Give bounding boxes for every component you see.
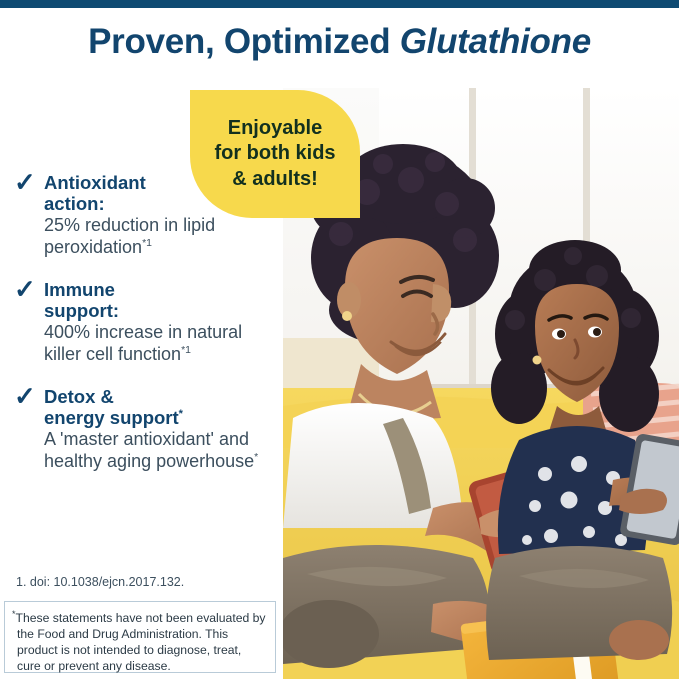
citation-reference: 1. doi: 10.1038/ejcn.2017.132. [16,575,184,589]
fda-disclaimer-text: *These statements have not been evaluate… [12,609,266,675]
benefit-heading-superscript: * [179,408,183,420]
benefit-body-superscript: * [254,451,258,463]
check-icon: ✓ [14,383,36,409]
benefits-list: ✓ Antioxidant action: 25% reduction in l… [14,172,282,493]
benefit-heading: Antioxidant action: [44,172,282,214]
headline-emphasis-text: Glutathione [400,22,591,61]
headline-primary-text: Proven, Optimized [88,22,400,61]
benefit-body-text: 400% increase in natural killer cell fun… [44,322,242,364]
benefit-body-text: A 'master antioxidant' and healthy aging… [44,429,254,471]
benefit-body-superscript: *1 [181,344,191,356]
benefit-item-immune: ✓ Immune support: 400% increase in natur… [14,279,282,366]
benefit-heading-line-1: Immune [44,279,115,300]
benefit-body: 25% reduction in lipid peroxidation*1 [44,215,282,259]
top-accent-bar [0,0,679,8]
benefit-heading-line-1: Antioxidant [44,172,146,193]
benefit-item-antioxidant: ✓ Antioxidant action: 25% reduction in l… [14,172,282,259]
benefit-heading: Detox & energy support* [44,386,282,428]
badge-line-1: Enjoyable [228,116,322,141]
benefit-body: 400% increase in natural killer cell fun… [44,322,282,366]
benefit-heading-line-2: action: [44,193,105,214]
badge-line-2: for both kids [214,141,335,166]
fda-disclaimer-box: *These statements have not been evaluate… [4,601,276,673]
benefit-body-text: 25% reduction in lipid peroxidation [44,215,215,257]
disclaimer-body: These statements have not been evaluated… [16,611,266,673]
benefit-heading-line-2: support: [44,300,119,321]
benefit-body: A 'master antioxidant' and healthy aging… [44,429,282,473]
benefit-heading: Immune support: [44,279,282,321]
page-title: Proven, Optimized Glutathione [0,22,679,62]
check-icon: ✓ [14,276,36,302]
benefit-item-detox: ✓ Detox & energy support* A 'master anti… [14,386,282,473]
benefit-body-superscript: *1 [142,237,152,249]
check-icon: ✓ [14,169,36,195]
benefit-heading-line-2: energy support [44,407,179,428]
benefit-heading-line-1: Detox & [44,386,114,407]
